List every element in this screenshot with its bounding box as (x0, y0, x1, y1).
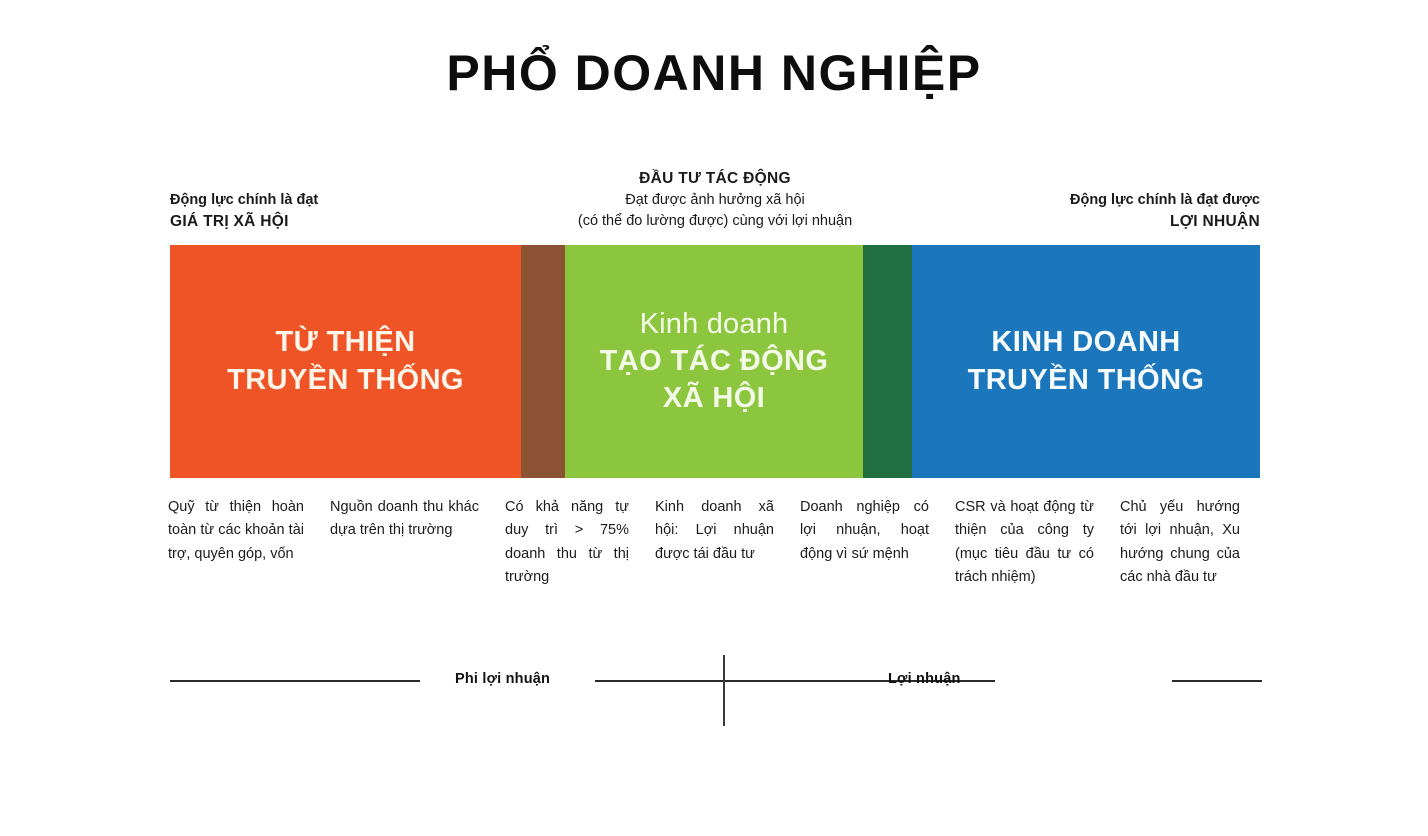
axis-line-left (170, 680, 420, 682)
description-column: Doanh nghiệp có lợi nhuận, hoạt động vì … (800, 496, 955, 590)
top-label-social-value-strong: GIÁ TRỊ XÃ HỘI (170, 211, 318, 233)
description-column: Nguồn doanh thu khác dựa trên thị trường (330, 496, 505, 590)
spectrum-band-bridge-charity-social (521, 245, 565, 478)
axis-line-right (1172, 680, 1262, 682)
page-title: PHỔ DOANH NGHIỆP (0, 46, 1428, 101)
top-label-profit-strong: LỢI NHUẬN (1070, 211, 1260, 233)
band-line-3: XÃ HỘI (600, 380, 829, 417)
description-column: Chủ yếu hướng tới lợi nhuận, Xu hướng ch… (1120, 496, 1266, 590)
top-label-impact-investing: ĐẦU TƯ TÁC ĐỘNG Đạt được ảnh hưởng xã hộ… (515, 168, 915, 233)
top-label-profit: Động lực chính là đạt được LỢI NHUẬN (1070, 190, 1260, 233)
band-line-1: Kinh doanh (600, 306, 829, 343)
description-column: Có khả năng tự duy trì > 75% doanh thu t… (505, 496, 655, 590)
spectrum-band-social-impact-business: Kinh doanh TẠO TÁC ĐỘNG XÃ HỘI (565, 245, 863, 478)
spectrum-band-traditional-charity: TỪ THIỆN TRUYỀN THỐNG (170, 245, 521, 478)
spectrum-band-bridge-social-business (863, 245, 912, 478)
spectrum-band-traditional-charity-label: TỪ THIỆN TRUYỀN THỐNG (219, 324, 472, 398)
spectrum-band-traditional-business-label: KINH DOANH TRUYỀN THỐNG (960, 324, 1213, 398)
spectrum-band-social-impact-business-label: Kinh doanh TẠO TÁC ĐỘNG XÃ HỘI (592, 306, 837, 417)
spectrum-bar: TỪ THIỆN TRUYỀN THỐNG Kinh doanh TẠO TÁC… (170, 245, 1260, 478)
top-label-impact-investing-sub1: Đạt được ảnh hưởng xã hội (515, 190, 915, 211)
band-line-1: TỪ THIỆN (227, 324, 464, 361)
band-line-1: KINH DOANH (968, 324, 1205, 361)
spectrum-band-traditional-business: KINH DOANH TRUYỀN THỐNG (912, 245, 1260, 478)
spectrum-top-labels: Động lực chính là đạt GIÁ TRỊ XÃ HỘI ĐẦU… (170, 168, 1260, 238)
top-label-impact-investing-sub2: (có thể đo lường được) cùng với lợi nhuậ… (515, 211, 915, 232)
description-column: Quỹ từ thiện hoàn toàn từ các khoản tài … (168, 496, 330, 590)
spectrum-descriptions: Quỹ từ thiện hoàn toàn từ các khoản tài … (168, 496, 1266, 590)
profit-axis: Phi lợi nhuận Lợi nhuận (170, 655, 1262, 735)
top-label-social-value-lead: Động lực chính là đạt (170, 190, 318, 211)
top-label-social-value: Động lực chính là đạt GIÁ TRỊ XÃ HỘI (170, 190, 318, 233)
top-label-impact-investing-strong: ĐẦU TƯ TÁC ĐỘNG (515, 168, 915, 190)
axis-label-profit: Lợi nhuận (888, 671, 961, 687)
band-line-2: TRUYỀN THỐNG (968, 362, 1205, 399)
axis-divider-vertical (723, 655, 725, 726)
description-column: CSR và hoạt động từ thiện của công ty (m… (955, 496, 1120, 590)
band-line-2: TRUYỀN THỐNG (227, 362, 464, 399)
description-column: Kinh doanh xã hội: Lợi nhuận được tái đầ… (655, 496, 800, 590)
top-label-profit-lead: Động lực chính là đạt được (1070, 190, 1260, 211)
axis-label-nonprofit: Phi lợi nhuận (455, 671, 550, 687)
band-line-2: TẠO TÁC ĐỘNG (600, 343, 829, 380)
